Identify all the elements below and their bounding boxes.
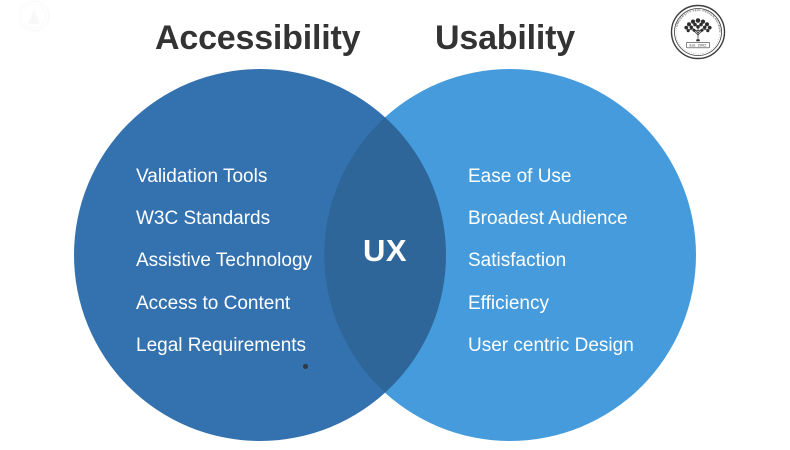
slide-canvas: Accessibility Usability Validation Tools… bbox=[0, 0, 790, 450]
list-item: Efficiency bbox=[468, 283, 634, 325]
venn-intersection-label: UX bbox=[324, 234, 446, 268]
list-item: User centric Design bbox=[468, 325, 634, 367]
circular-seal-tree-logo: UNIVERSITY SEAL DESIGN ACCESSIBILITY bbox=[669, 3, 727, 61]
list-item: Ease of Use bbox=[468, 156, 634, 198]
accessibility-item-list: Validation Tools W3C Standards Assistive… bbox=[136, 156, 312, 367]
list-item: Validation Tools bbox=[136, 156, 312, 198]
venn-diagram: Validation Tools W3C Standards Assistive… bbox=[0, 0, 790, 450]
list-item: Assistive Technology bbox=[136, 240, 312, 282]
list-item: Legal Requirements bbox=[136, 325, 312, 367]
list-item: Satisfaction bbox=[468, 240, 634, 282]
usability-item-list: Ease of Use Broadest Audience Satisfacti… bbox=[468, 156, 634, 367]
list-item: Access to Content bbox=[136, 283, 312, 325]
list-item: W3C Standards bbox=[136, 198, 312, 240]
seal-motto: Est. 2002 bbox=[690, 44, 707, 48]
list-item: Broadest Audience bbox=[468, 198, 634, 240]
stray-bullet-dot bbox=[303, 364, 308, 369]
